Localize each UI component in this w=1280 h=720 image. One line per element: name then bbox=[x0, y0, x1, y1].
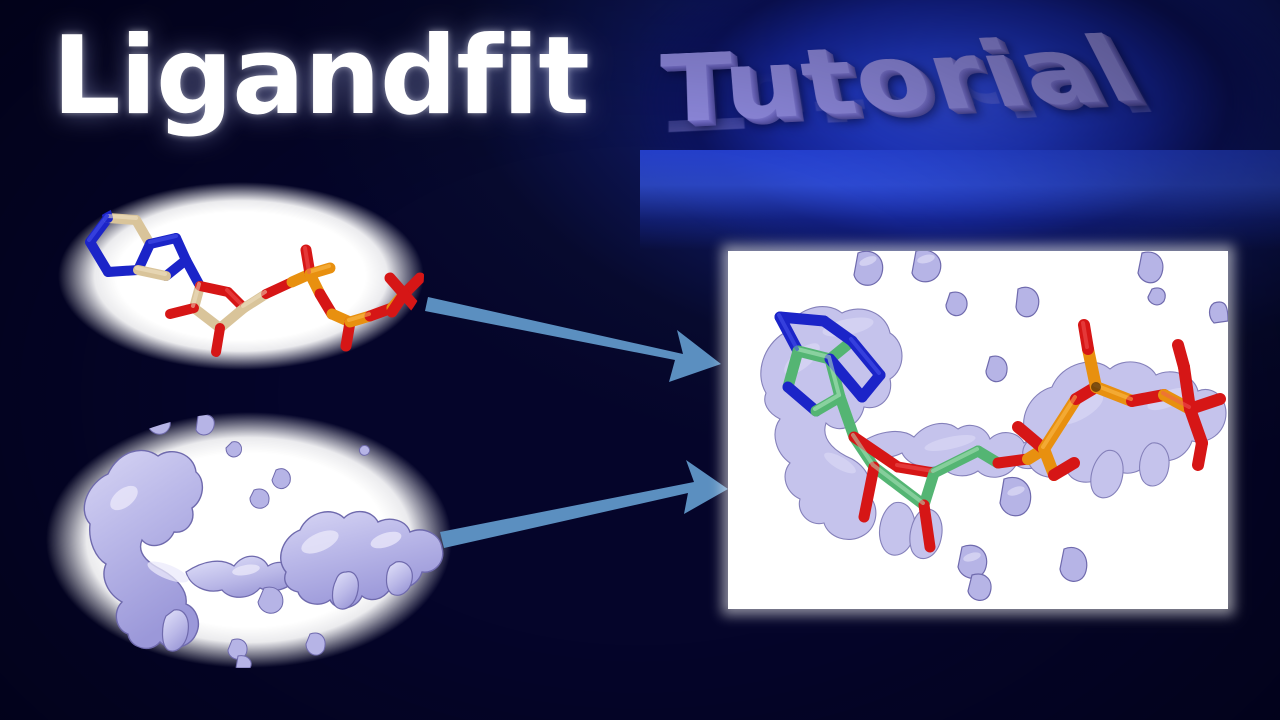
density-panel-clip bbox=[46, 412, 452, 668]
atp-stick-model-icon bbox=[58, 182, 424, 370]
density-map-panel bbox=[46, 412, 452, 668]
electron-density-blob-icon bbox=[46, 412, 452, 668]
arrow-ligand-to-result bbox=[425, 288, 725, 378]
tutorial-reflection-floor bbox=[640, 150, 1280, 250]
ligand-model-panel bbox=[58, 182, 424, 370]
arrow-density-to-result bbox=[438, 458, 728, 548]
fitted-result-panel bbox=[728, 251, 1228, 609]
ligand-in-density-icon bbox=[728, 251, 1228, 609]
page-title: Ligandfit bbox=[52, 23, 589, 131]
ligand-panel-clip bbox=[58, 182, 424, 370]
slide-canvas: Tutorial Tutorial Ligandfit bbox=[0, 0, 1280, 720]
tutorial-3d-graphic: Tutorial Tutorial bbox=[640, 0, 1280, 250]
